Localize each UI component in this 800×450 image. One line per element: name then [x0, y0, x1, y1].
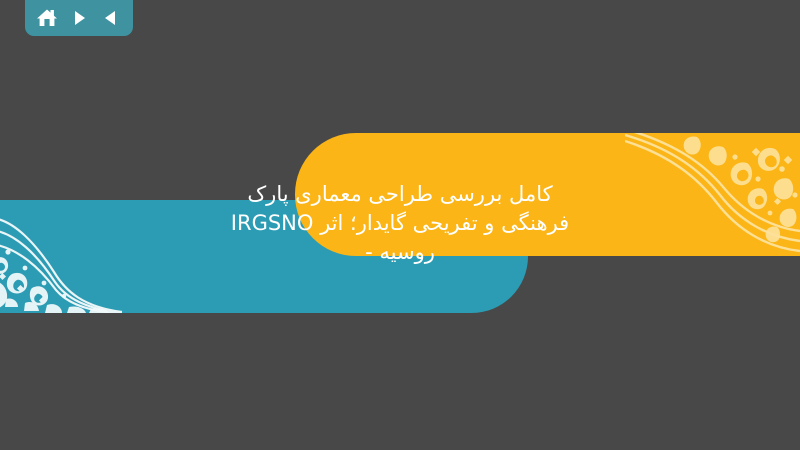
- presentation-slide: کامل بررسی طراحی معماری پارک فرهنگی و تف…: [0, 0, 800, 450]
- back-button[interactable]: [98, 5, 124, 31]
- home-icon: [36, 8, 58, 28]
- forward-button[interactable]: [66, 5, 92, 31]
- home-button[interactable]: [34, 5, 60, 31]
- forward-icon: [70, 9, 88, 27]
- navigation-bar: [25, 0, 133, 36]
- title-line-3: روسیه -: [365, 238, 435, 267]
- slide-title: کامل بررسی طراحی معماری پارک فرهنگی و تف…: [0, 0, 800, 450]
- title-line-1: کامل بررسی طراحی معماری پارک: [247, 180, 552, 209]
- back-icon: [102, 9, 120, 27]
- title-line-2: فرهنگی و تفریحی گایدار؛ اثر IRGSNO: [231, 209, 569, 238]
